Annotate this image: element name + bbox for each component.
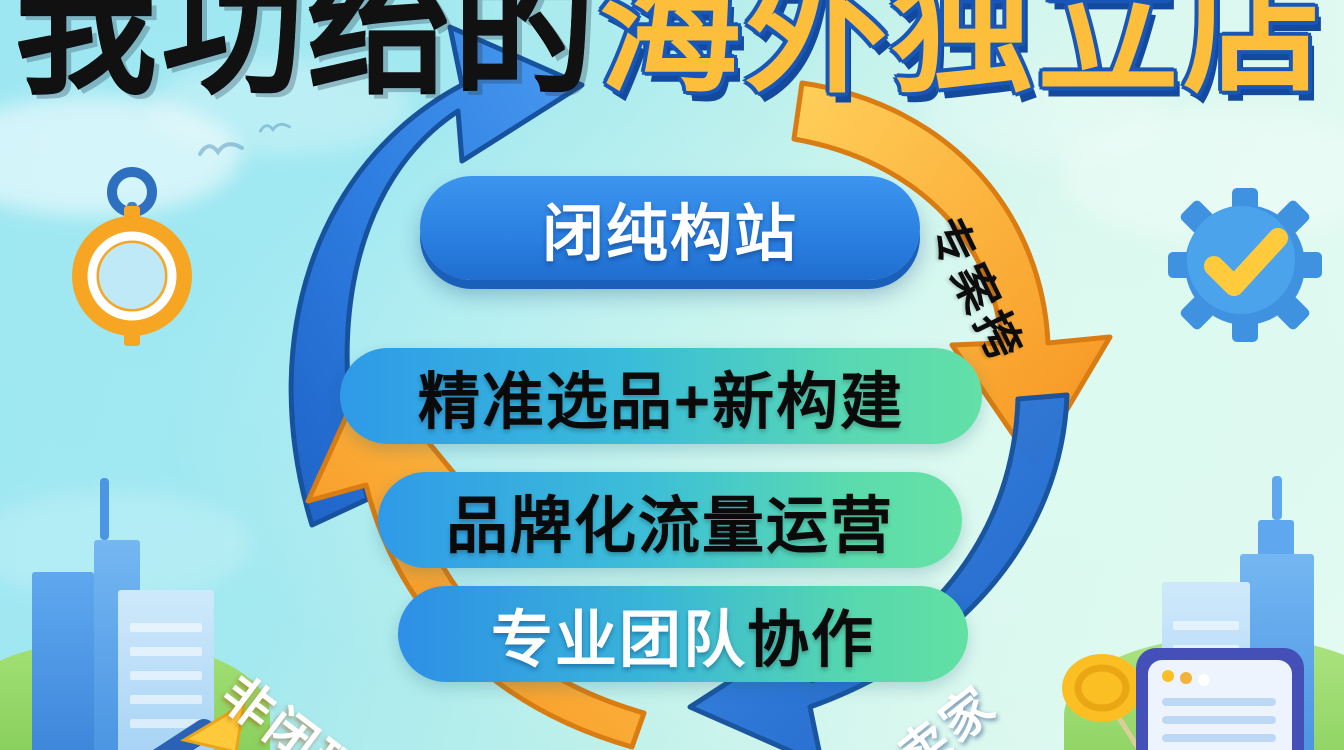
feature-pill-2[interactable]: 精准选品+新构建 (340, 348, 982, 444)
poster-canvas: 我功绐的海外独立店 闭纯构站 精准选品+新构建 品牌化流量运营 专业团队协作 专… (0, 0, 1344, 750)
gear-ring-icon (56, 166, 208, 342)
browser-window-icon (1128, 640, 1318, 750)
page-title: 我功绐的海外独立店 (0, 0, 1344, 105)
gear-check-icon (1166, 186, 1324, 344)
feature-pill-1[interactable]: 闭纯构站 (420, 176, 920, 280)
feature-pill-3-label: 品牌化流量运营 (446, 475, 894, 565)
feature-pill-3[interactable]: 品牌化流量运营 (378, 472, 962, 568)
feature-pill-4-label-white: 专业团队 (491, 589, 747, 679)
feature-pill-4[interactable]: 专业团队协作 (398, 586, 968, 682)
headline-black: 我功绐的 (15, 0, 599, 110)
feature-pill-4-label-black: 协作 (747, 589, 875, 679)
feature-pill-2-label: 精准选品+新构建 (418, 351, 904, 441)
headline-yellow: 海外独立店 (599, 0, 1329, 110)
feature-pill-1-label: 闭纯构站 (542, 183, 798, 273)
